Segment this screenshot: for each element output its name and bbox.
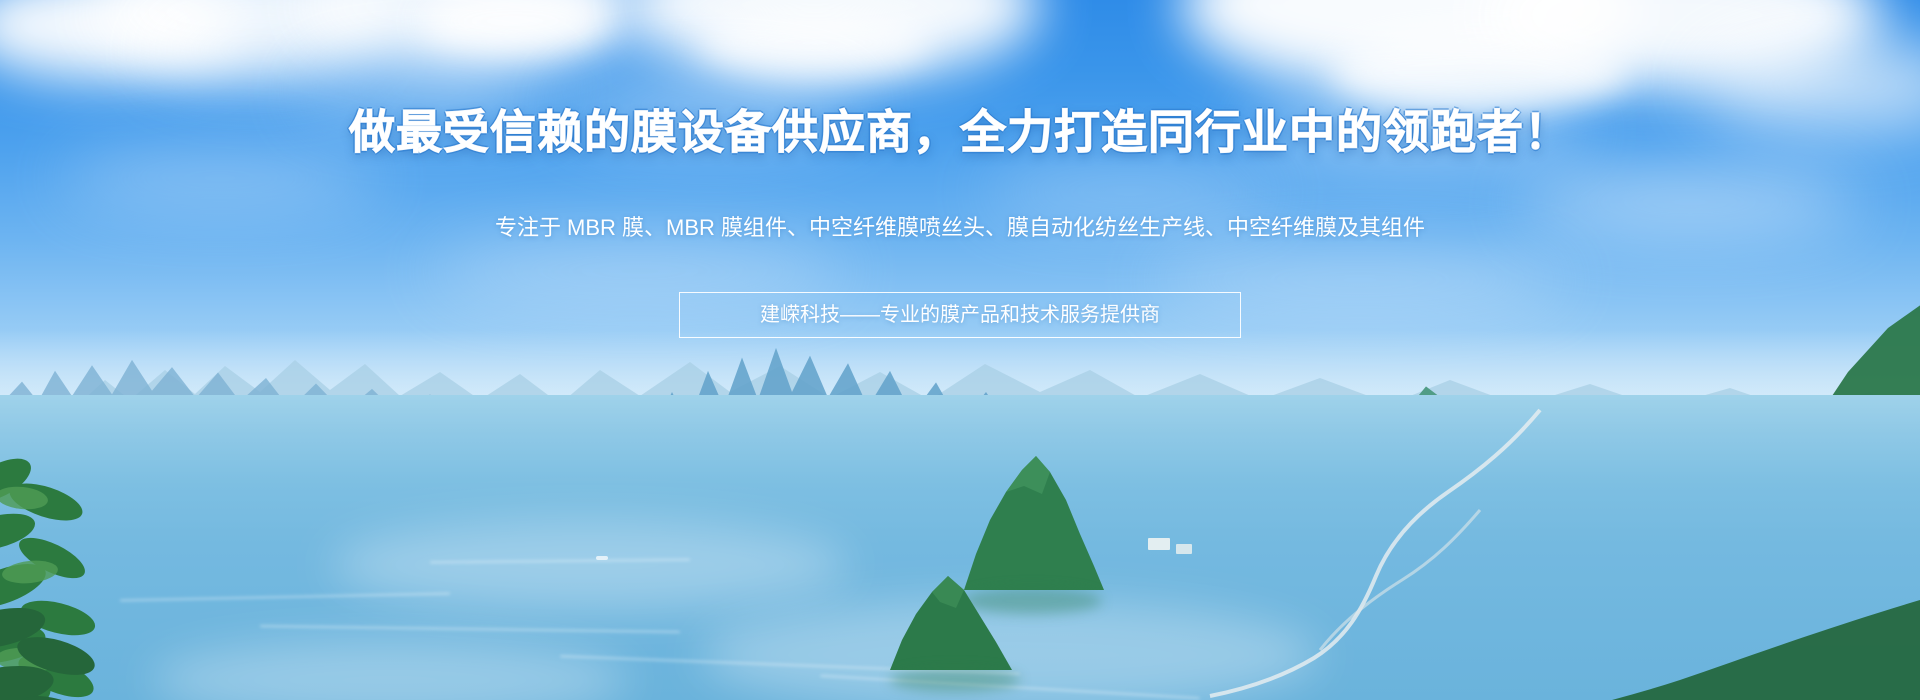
banner-subtitle: 专注于 MBR 膜、MBR 膜组件、中空纤维膜喷丝头、膜自动化纺丝生产线、中空纤… bbox=[0, 212, 1920, 244]
tagline-text: 建嵘科技——专业的膜产品和技术服务提供商 bbox=[760, 303, 1160, 327]
hero-banner: 做最受信赖的膜设备供应商，全力打造同行业中的领跑者！ 专注于 MBR 膜、MBR… bbox=[0, 0, 1920, 700]
banner-headline: 做最受信赖的膜设备供应商，全力打造同行业中的领跑者！ bbox=[0, 103, 1920, 161]
banner-text-layer: 做最受信赖的膜设备供应商，全力打造同行业中的领跑者！ 专注于 MBR 膜、MBR… bbox=[0, 0, 1920, 700]
tagline-box: 建嵘科技——专业的膜产品和技术服务提供商 bbox=[679, 292, 1241, 338]
